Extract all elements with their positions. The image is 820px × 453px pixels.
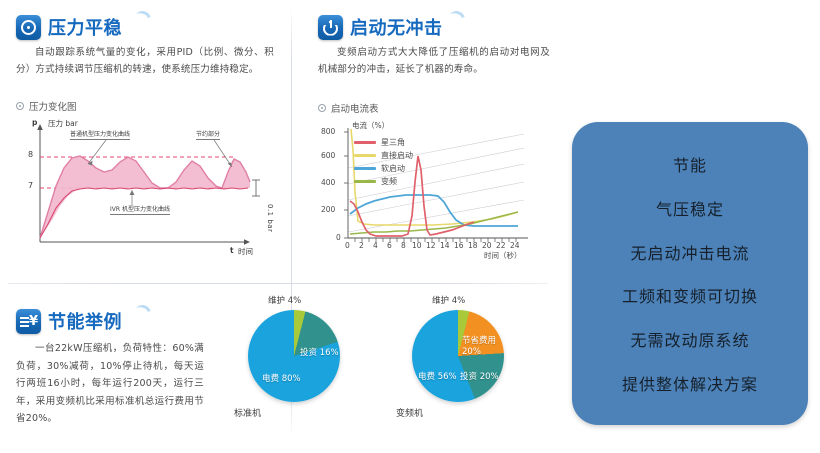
horizontal-divider (8, 283, 548, 284)
legend-item: 软启动 (354, 162, 413, 175)
legend-swatch-icon (354, 141, 376, 143)
pie-vfd-label-maintenance: 维护 4% (432, 294, 465, 306)
chart-caption-startup: 启动电流表 (318, 101, 379, 115)
pressure-xaxis-symbol: t (230, 246, 234, 255)
pie-standard-name: 标准机 (234, 406, 261, 419)
section-header-pressure: 压力平稳 (16, 14, 122, 40)
legend-swatch-icon (354, 154, 376, 156)
legend-label: 直接启动 (381, 150, 413, 161)
current-xtick-16: 16 (454, 241, 464, 250)
pressure-annotation-bar-range: 0.1 bar (266, 204, 274, 232)
current-chart-legend: 星三角 直接启动 软启动 变频 (354, 136, 413, 188)
pressure-annotation-ivr: IVR 机型压力变化曲线 (110, 204, 170, 215)
pie-chart-standard: 维护 4% 投资 16% 电费 80% 标准机 (248, 310, 340, 402)
swoosh-decoration (131, 302, 154, 325)
benefit-item: 无需改动原系统 (630, 327, 749, 351)
swoosh-decoration (131, 8, 154, 31)
gauge-icon (16, 15, 41, 40)
startup-current-chart: 电流（%） 时间（秒） 0 200 400 600 800 0 2 4 6 8 … (312, 120, 544, 262)
section-body-startup: 变频启动方式大大降低了压缩机的启动对电网及机械部分的冲击，延长了机器的寿命。 (318, 45, 550, 78)
chart-caption-pressure-label: 压力变化图 (29, 99, 77, 113)
pie-vfd-label-electricity: 电费 56% (418, 370, 457, 382)
benefit-item: 气压稳定 (656, 196, 724, 220)
legend-item: 直接启动 (354, 149, 413, 162)
current-xtick-6: 6 (387, 241, 392, 250)
chart-caption-pressure: 压力变化图 (16, 99, 77, 113)
pie-vfd-label-saving: 节省费用 20% (462, 336, 508, 357)
current-xtick-10: 10 (412, 241, 422, 250)
current-xtick-24: 24 (510, 241, 520, 250)
pressure-ytick-8: 8 (28, 150, 33, 159)
bullet-icon (318, 104, 326, 112)
current-xtick-8: 8 (401, 241, 406, 250)
pressure-annotation-saving: 节约部分 (196, 129, 220, 140)
pie-standard-label-maintenance: 维护 4% (268, 294, 301, 306)
current-xtick-12: 12 (426, 241, 436, 250)
legend-label: 软启动 (381, 163, 405, 174)
pressure-ytick-7: 7 (28, 181, 33, 190)
current-ytick-200: 200 (321, 205, 335, 214)
current-ytick-600: 600 (321, 151, 335, 160)
pie-vfd-label-investment: 投资 20% (460, 370, 499, 382)
legend-item: 变频 (354, 175, 413, 188)
section-body-pressure: 自动跟踪系统气量的变化，采用PID（比例、微分、积分）方式持续调节压缩机的转速，… (16, 45, 274, 78)
pressure-yaxis-symbol: p (32, 118, 37, 127)
section-body-saving: 一台22kW压缩机，负荷特性：60%满负荷，30%减荷，10%停止待机，每天运行… (16, 340, 204, 428)
pressure-yaxis-label: 压力 bar (48, 118, 78, 129)
chart-caption-startup-label: 启动电流表 (331, 101, 379, 115)
current-ytick-0: 0 (336, 233, 341, 242)
pie-standard-label-electricity: 电费 80% (262, 372, 301, 384)
pressure-chart: 8 7 p 压力 bar t 时间 普通机型压力变化曲线 节约部分 IVR 机型… (14, 120, 276, 260)
current-xtick-22: 22 (496, 241, 506, 250)
benefit-item: 工频和变频可切换 (622, 283, 758, 307)
benefit-item: 无启动冲击电流 (630, 240, 749, 264)
swoosh-decoration (445, 8, 468, 31)
slide-root: 压力平稳 自动跟踪系统气量的变化，采用PID（比例、微分、积分）方式持续调节压缩… (0, 0, 820, 453)
bullet-icon (16, 102, 24, 110)
section-title-saving: 节能举例 (48, 308, 122, 334)
pie-vfd-name: 变频机 (396, 406, 423, 419)
benefit-item: 提供整体解决方案 (622, 371, 758, 395)
current-xtick-18: 18 (468, 241, 478, 250)
pressure-chart-svg (14, 120, 276, 260)
current-chart-ylabel: 电流（%） (352, 120, 389, 131)
section-title-pressure: 压力平稳 (48, 14, 122, 40)
benefits-panel: 节能 气压稳定 无启动冲击电流 工频和变频可切换 无需改动原系统 提供整体解决方… (572, 122, 808, 425)
current-xtick-20: 20 (482, 241, 492, 250)
current-xtick-4: 4 (373, 241, 378, 250)
pressure-xaxis-label: 时间 (238, 246, 253, 257)
section-header-startup: 启动无冲击 (318, 14, 443, 40)
legend-item: 星三角 (354, 136, 413, 149)
section-header-saving: 节能举例 (16, 308, 122, 334)
legend-swatch-icon (354, 167, 376, 169)
current-ytick-800: 800 (321, 127, 335, 136)
power-icon (318, 15, 343, 40)
pressure-annotation-normal: 普通机型压力变化曲线 (70, 129, 130, 140)
legend-label: 星三角 (381, 137, 405, 148)
yen-icon (16, 309, 41, 334)
current-xtick-14: 14 (440, 241, 450, 250)
legend-label: 变频 (381, 176, 397, 187)
pie-chart-vfd: 维护 4% 节省费用 20% 投资 20% 电费 56% 变频机 (412, 310, 504, 402)
benefit-item: 节能 (673, 152, 707, 176)
current-xtick-0: 0 (345, 241, 350, 250)
legend-swatch-icon (354, 180, 376, 182)
section-title-startup: 启动无冲击 (350, 14, 443, 40)
current-chart-xlabel: 时间（秒） (484, 250, 522, 261)
current-ytick-400: 400 (321, 178, 335, 187)
pie-standard-label-investment: 投资 16% (300, 346, 339, 358)
current-xtick-2: 2 (359, 241, 364, 250)
